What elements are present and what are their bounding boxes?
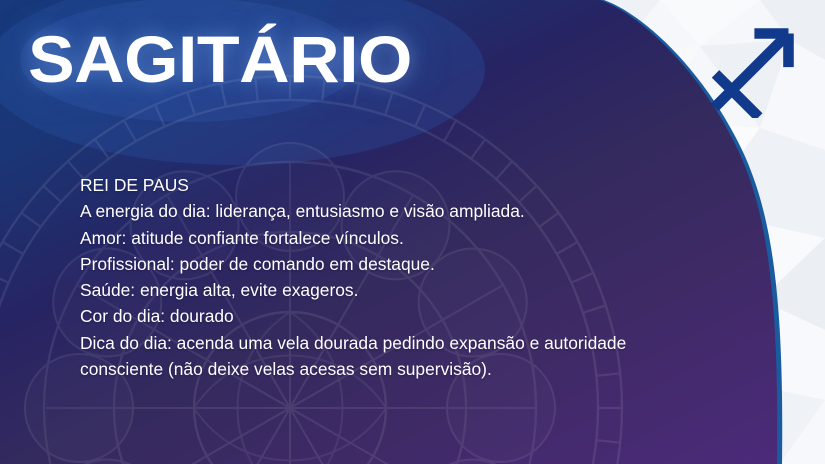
professional-line: Profissional: poder de comando em destaq… — [80, 251, 680, 277]
tarot-card-name: REI DE PAUS — [80, 172, 680, 198]
energy-line: A energia do dia: liderança, entusiasmo … — [80, 198, 680, 224]
health-line: Saúde: energia alta, evite exageros. — [80, 277, 680, 303]
page-title: SAGITÁRIO — [28, 26, 412, 92]
sagittarius-arrow-icon — [704, 22, 800, 118]
love-line: Amor: atitude confiante fortalece víncul… — [80, 225, 680, 251]
horoscope-text: REI DE PAUS A energia do dia: liderança,… — [80, 172, 680, 382]
horoscope-card: SAGITÁRIO REI DE PAUS A energia do dia: … — [0, 0, 825, 464]
tip-line: Dica do dia: acenda uma vela dourada ped… — [80, 330, 680, 383]
sagittarius-glyph-art — [704, 22, 800, 118]
color-of-day-line: Cor do dia: dourado — [80, 303, 680, 329]
